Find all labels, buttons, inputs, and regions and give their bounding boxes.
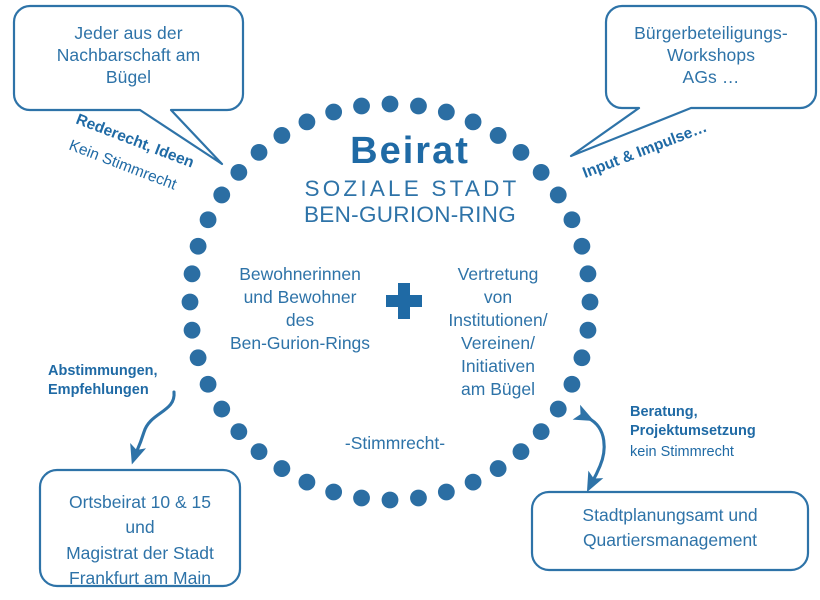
ring-dot [190, 349, 207, 366]
ring-dot [574, 238, 591, 255]
ring-dot [533, 423, 550, 440]
ring-dot [513, 443, 530, 460]
ring-dot [410, 98, 427, 115]
ring-dot [438, 484, 455, 501]
arrow-to-stadtplanungsamt [588, 418, 604, 486]
subtitle-soziale-stadt: SOZIALE STADT [270, 175, 554, 203]
bubble-top-left-text: Jeder aus der Nachbarschaft am Bügel [22, 22, 235, 88]
box-bottom-left-text: Ortsbeirat 10 & 15 und Magistrat der Sta… [44, 490, 236, 592]
inner-column-institutions: Vertretung von Institutionen/ Vereinen/ … [425, 263, 571, 402]
ring-dot [582, 294, 599, 311]
inner-column-residents: Bewohnerinnen und Bewohner des Ben-Gurio… [215, 263, 385, 355]
ring-dot [200, 376, 217, 393]
ring-dot [580, 322, 597, 339]
ring-dot [465, 474, 482, 491]
ring-dot [230, 423, 247, 440]
ring-dot [580, 265, 597, 282]
label-beratung-projektumsetzung: Beratung, Projektumsetzung [630, 403, 756, 442]
ring-dot [184, 322, 201, 339]
label-abstimmungen-empfehlungen: Abstimmungen, Empfehlungen [48, 362, 158, 401]
ring-dot [564, 211, 581, 228]
ring-dot [182, 294, 199, 311]
page-title: Beirat [270, 128, 550, 176]
box-bottom-right-text: Stadtplanungsamt und Quartiersmanagement [536, 503, 804, 554]
ring-dot [230, 164, 247, 181]
bubble-top-right-text: Bürgerbeteiligungs- Workshops AGs … [610, 22, 812, 88]
ring-dot [325, 484, 342, 501]
ring-dot [200, 211, 217, 228]
ring-dot [410, 490, 427, 507]
ring-dot [438, 104, 455, 121]
ring-dot [273, 460, 290, 477]
center-footer-stimmrecht: -Stimmrecht- [305, 432, 485, 454]
ring-dot [490, 460, 507, 477]
ring-dot [382, 96, 399, 113]
ring-dot [574, 349, 591, 366]
ring-dot [325, 104, 342, 121]
ring-dot [213, 187, 230, 204]
label-kein-stimmrecht-right: kein Stimmrecht [630, 443, 734, 462]
ring-dot [213, 401, 230, 418]
subtitle-ben-gurion-ring: BEN-GURION-RING [270, 201, 550, 229]
ring-dot [251, 443, 268, 460]
ring-dot [299, 474, 316, 491]
ring-dot [184, 265, 201, 282]
ring-dot [353, 490, 370, 507]
ring-dot [550, 401, 567, 418]
arrow-to-ortsbeirat [134, 392, 174, 458]
ring-dot [251, 144, 268, 161]
plus-icon [386, 283, 422, 319]
ring-dot [353, 98, 370, 115]
diagram-canvas: Jeder aus der Nachbarschaft am Bügel Bür… [0, 0, 820, 600]
ring-dot [382, 492, 399, 509]
ring-dot [190, 238, 207, 255]
